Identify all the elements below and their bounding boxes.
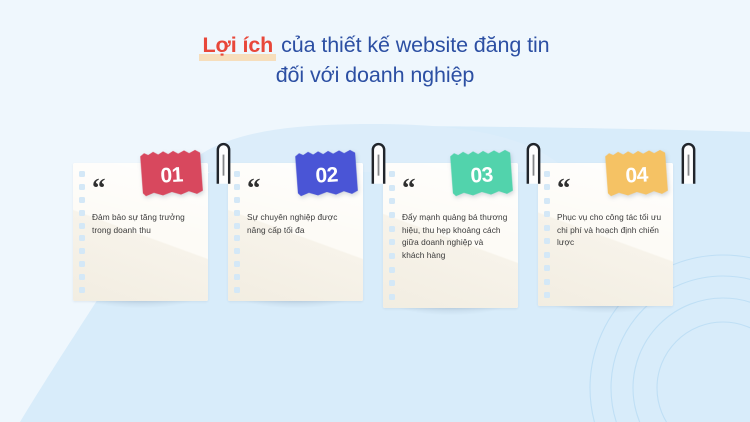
benefit-cards-row: “ Đảm bảo sự tăng trưởng trong doanh thu… — [73, 163, 680, 308]
paperclip-icon — [502, 140, 515, 169]
paperclip-icon — [347, 140, 360, 169]
benefit-card-01[interactable]: “ Đảm bảo sự tăng trưởng trong doanh thu… — [73, 163, 208, 301]
number-tag-04: 04 — [605, 149, 668, 196]
card-text: Sự chuyên nghiệp được nâng cấp tối đa — [247, 211, 353, 236]
paperclip-icon — [657, 140, 670, 169]
title-line-1: Lợi ích của thiết kế website đăng tin — [0, 30, 750, 60]
title-line-2: đối với doanh nghiệp — [0, 60, 750, 90]
paperclip-icon — [192, 140, 205, 169]
card-text: Đẩy mạnh quảng bá thương hiệu, thu hẹp k… — [402, 211, 508, 261]
number-tag-03: 03 — [450, 149, 513, 196]
title-line-1-rest: của thiết kế website đăng tin — [275, 33, 549, 57]
card-text: Đảm bảo sự tăng trưởng trong doanh thu — [92, 211, 198, 236]
card-text: Phục vụ cho công tác tối ưu chi phí và h… — [557, 211, 663, 249]
title-highlight: Lợi ích — [200, 30, 275, 60]
number-tag-02: 02 — [295, 149, 358, 196]
page-title: Lợi ích của thiết kế website đăng tin đố… — [0, 30, 750, 90]
number-tag-01: 01 — [140, 149, 203, 196]
